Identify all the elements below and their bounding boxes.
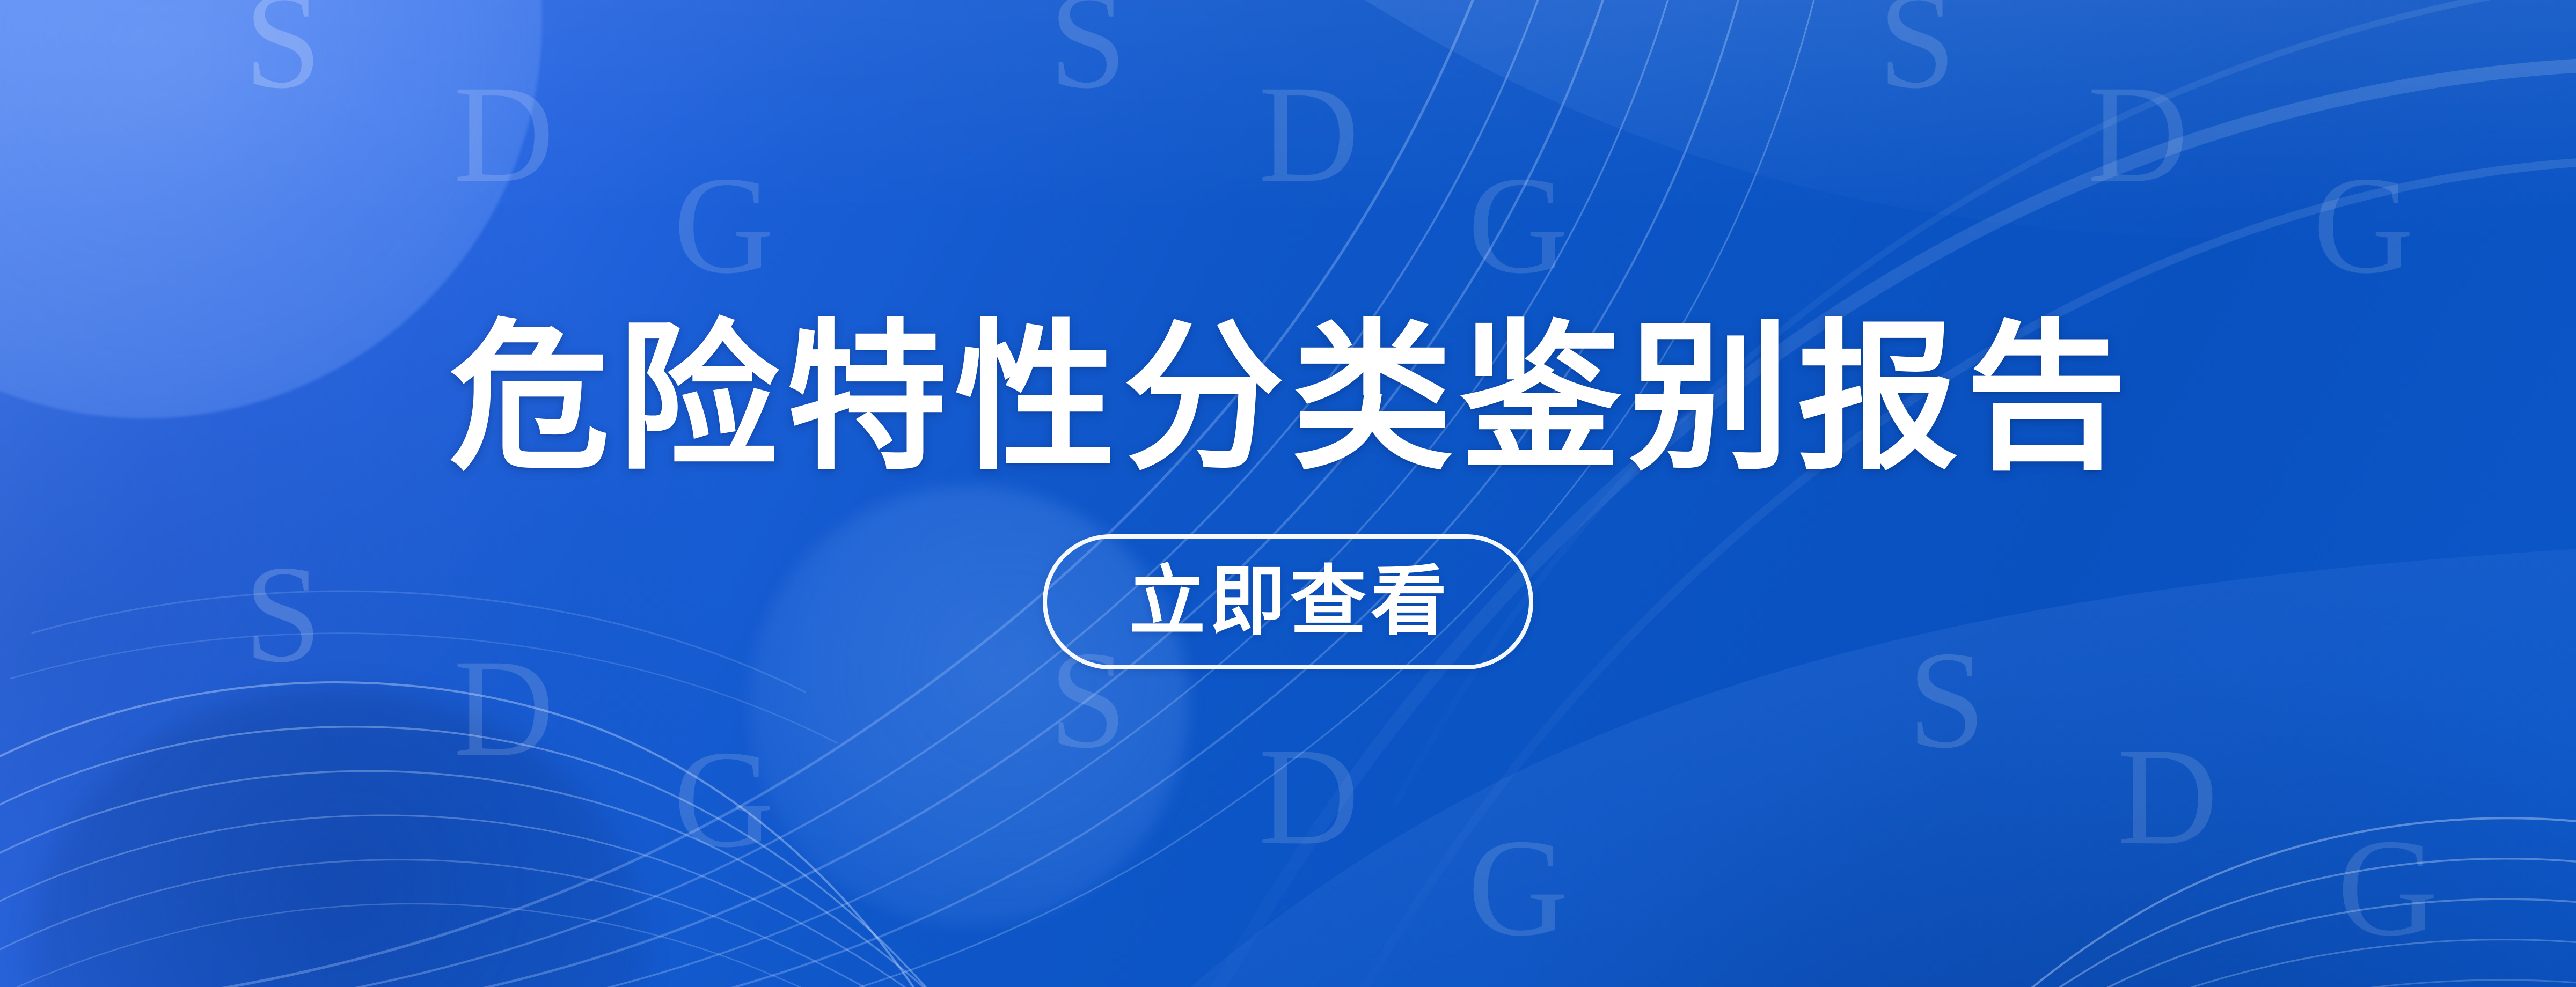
banner-content: 危险特性分类鉴别报告 立即查看	[0, 0, 2576, 987]
page-title: 危险特性分类鉴别报告	[449, 318, 2134, 478]
cta-container: 立即查看	[1043, 534, 1533, 669]
view-now-button[interactable]: 立即查看	[1043, 534, 1533, 669]
view-now-button-label: 立即查看	[1129, 564, 1451, 640]
promo-banner: SDGSDGSDGSDGSDGSDG 危险特性分类鉴别报告 立即查看	[0, 0, 2576, 987]
